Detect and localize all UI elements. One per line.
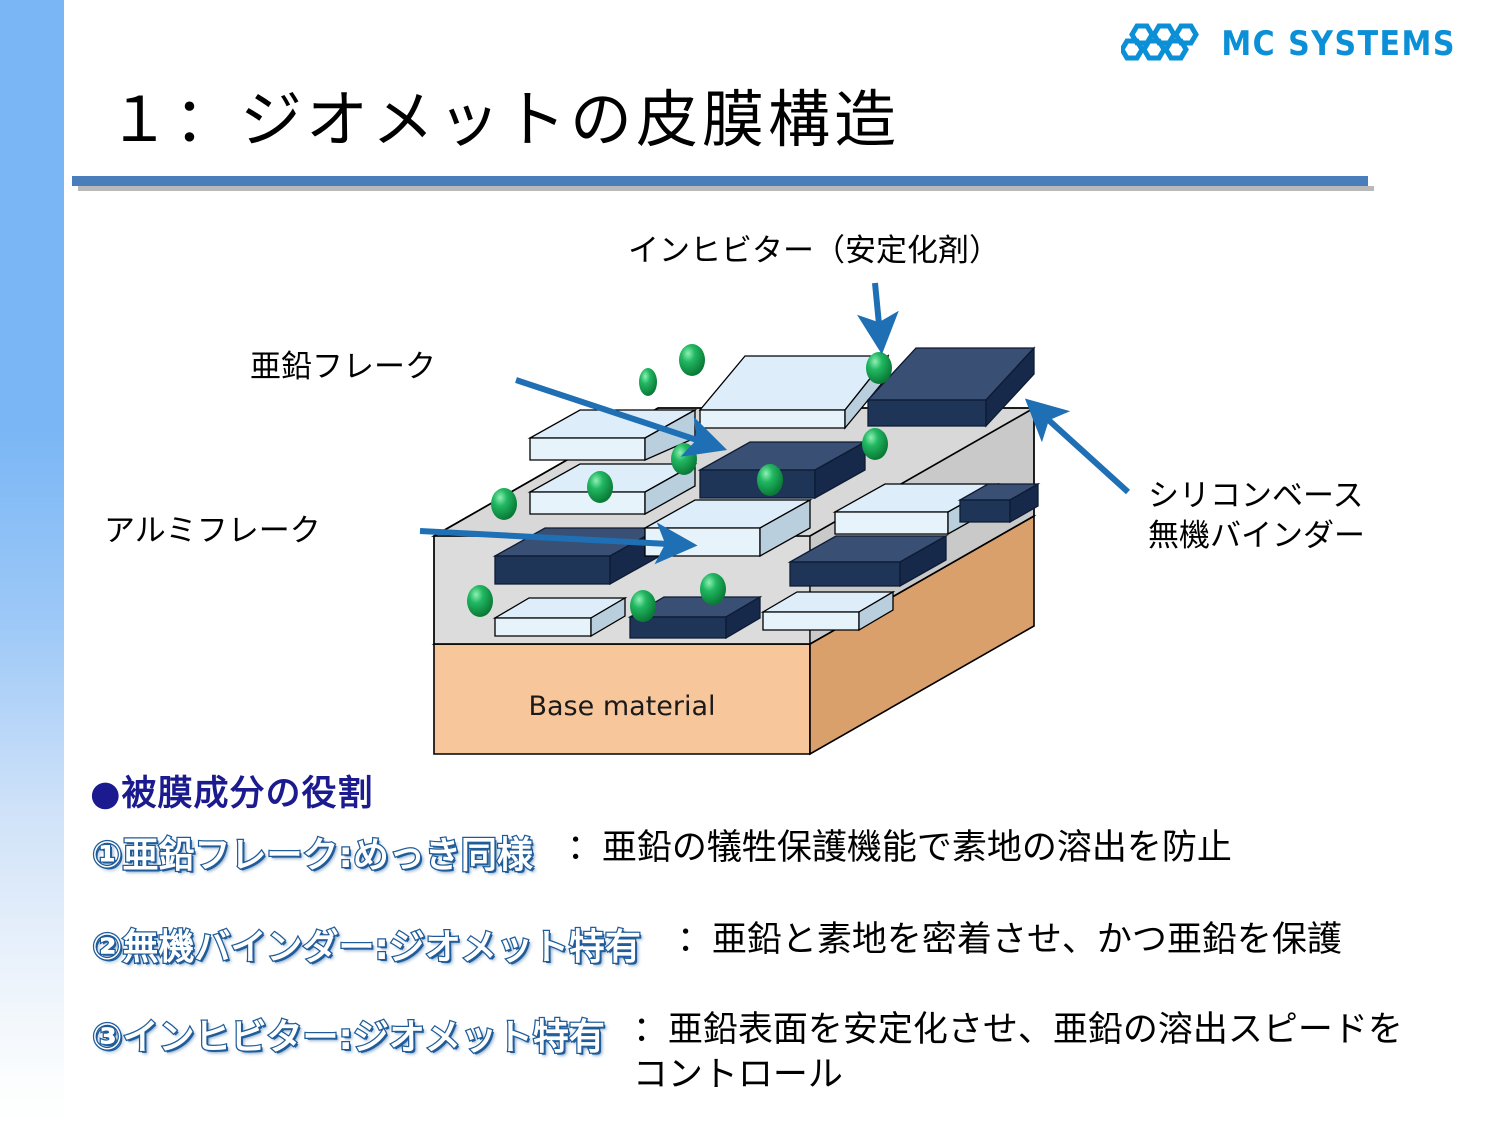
inhibitor-particles (467, 344, 892, 622)
zinc-flake (630, 597, 760, 638)
brand-logo: MC SYSTEMS (1121, 22, 1456, 67)
hexagon-cluster-icon (1121, 22, 1207, 67)
content-desc-3: ：亜鉛表面を安定化させ、亜鉛の溶出スピードを コントロール (633, 1008, 1403, 1098)
alumi-flake (835, 484, 998, 534)
silicon-binder-slab (434, 408, 1034, 644)
callout-label-alumi-flake: アルミフレーク (104, 512, 321, 552)
zinc-flake (790, 536, 946, 586)
alumi-flake (495, 598, 625, 636)
arrow-silicon-binder (1032, 405, 1128, 492)
title-rule (72, 176, 1368, 186)
brand-logo-text: MC SYSTEMS (1221, 25, 1456, 64)
alumi-flake (530, 464, 695, 514)
alumi-flake (530, 410, 695, 460)
callout-label-zinc-flake: 亜鉛フレーク (250, 348, 436, 388)
alumi-flake (700, 356, 888, 428)
arrow-inhibitor (875, 283, 881, 345)
content-term-2: ②無機バインダー:ジオメット特有 (92, 918, 641, 970)
title-rule-shadow (78, 186, 1374, 191)
callout-arrows (420, 283, 1128, 545)
arrow-alumi-flake (420, 531, 688, 545)
zinc-flake (868, 348, 1034, 426)
content-row-2: ②無機バインダー:ジオメット特有 ：亜鉛と素地を密着させ、かつ亜鉛を保護 (92, 918, 1342, 970)
page-title: １：ジオメットの皮膜構造 (108, 86, 900, 154)
content-row-3: ③インヒビター:ジオメット特有 ：亜鉛表面を安定化させ、亜鉛の溶出スピードを コ… (92, 1008, 1403, 1098)
zinc-flake (495, 528, 660, 584)
content-row-1: ①亜鉛フレーク:めっき同様 ：亜鉛の犠牲保護機能で素地の溶出を防止 (92, 826, 1232, 878)
arrow-zinc-flake (516, 380, 718, 447)
base-material-block (434, 516, 1034, 754)
content-desc-2: ：亜鉛と素地を密着させ、かつ亜鉛を保護 (677, 918, 1342, 963)
content-term-3: ③インヒビター:ジオメット特有 (92, 1008, 605, 1060)
left-accent-band (0, 0, 64, 1125)
section-heading: ●被膜成分の役割 (90, 765, 374, 816)
callout-label-inhibitor: インヒビター（安定化剤） (628, 232, 1000, 272)
zinc-flake (960, 484, 1038, 522)
alumi-flake (763, 592, 893, 630)
base-material-label: Base material (528, 691, 715, 722)
alumi-flake (645, 500, 810, 556)
content-term-1: ①亜鉛フレーク:めっき同様 (92, 826, 533, 878)
zinc-flake (700, 442, 865, 498)
content-desc-1: ：亜鉛の犠牲保護機能で素地の溶出を防止 (567, 826, 1232, 871)
callout-label-silicon-binder: シリコンベース 無機バインダー (1148, 477, 1468, 556)
